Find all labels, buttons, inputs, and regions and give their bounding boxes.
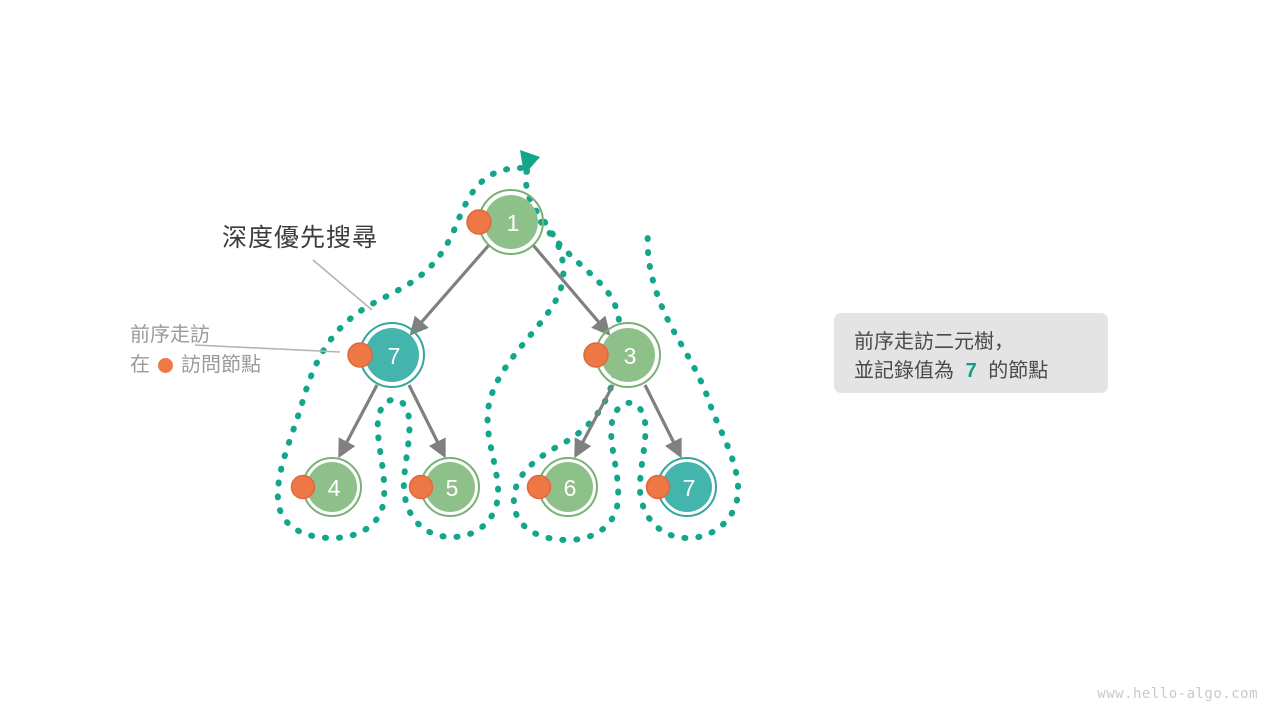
- legend-prefix-text: 在: [130, 350, 150, 380]
- legend-line-1: 前序走訪: [130, 320, 261, 350]
- info-target-value: 7: [966, 360, 977, 382]
- node-7-left-value: 7: [388, 343, 401, 369]
- tree-node-5[interactable]: 5: [410, 458, 480, 516]
- legend-line-2: 在 訪問節點: [130, 350, 261, 380]
- info-panel: 前序走訪二元樹， 並記錄值為 7 的節點: [834, 313, 1108, 393]
- edge-7-4: [340, 385, 377, 455]
- node-7-left-visit-dot: [348, 343, 372, 367]
- diagram-canvas: 1 7 3 4 5: [0, 0, 1280, 720]
- legend-traversal-name: 前序走訪: [130, 320, 210, 350]
- node-3-visit-dot: [584, 343, 608, 367]
- node-1-visit-dot: [467, 210, 491, 234]
- edge-1-7: [412, 245, 489, 333]
- tree-node-3[interactable]: 3: [584, 323, 660, 387]
- edge-3-7r: [645, 385, 680, 455]
- info-line-2-suffix: 的節點: [988, 360, 1048, 382]
- tree-node-4[interactable]: 4: [292, 458, 362, 516]
- node-7-right-value: 7: [683, 475, 696, 501]
- node-6-value: 6: [564, 475, 577, 501]
- leader-line-title: [313, 260, 372, 310]
- info-line-2-prefix: 並記錄值為: [854, 360, 954, 382]
- node-4-visit-dot: [292, 476, 315, 499]
- edge-1-3: [533, 245, 608, 333]
- node-4-value: 4: [328, 475, 341, 501]
- legend-suffix-text: 訪問節點: [181, 350, 261, 380]
- dfs-title-label: 深度優先搜尋: [222, 218, 378, 254]
- edge-3-6: [576, 385, 613, 455]
- node-5-value: 5: [446, 475, 459, 501]
- traversal-legend: 前序走訪 在 訪問節點: [130, 320, 261, 380]
- node-1-value: 1: [507, 210, 520, 236]
- edge-7-5: [409, 385, 444, 455]
- info-line-2: 並記錄值為 7 的節點: [854, 357, 1108, 386]
- info-line-1: 前序走訪二元樹，: [854, 328, 1108, 357]
- node-5-visit-dot: [410, 476, 433, 499]
- visit-dot-icon: [158, 358, 173, 373]
- tree-node-6[interactable]: 6: [528, 458, 598, 516]
- site-watermark: www.hello-algo.com: [1097, 686, 1258, 702]
- node-7-right-visit-dot: [647, 476, 670, 499]
- node-6-visit-dot: [528, 476, 551, 499]
- node-3-value: 3: [624, 343, 637, 369]
- tree-node-7-right[interactable]: 7: [647, 458, 717, 516]
